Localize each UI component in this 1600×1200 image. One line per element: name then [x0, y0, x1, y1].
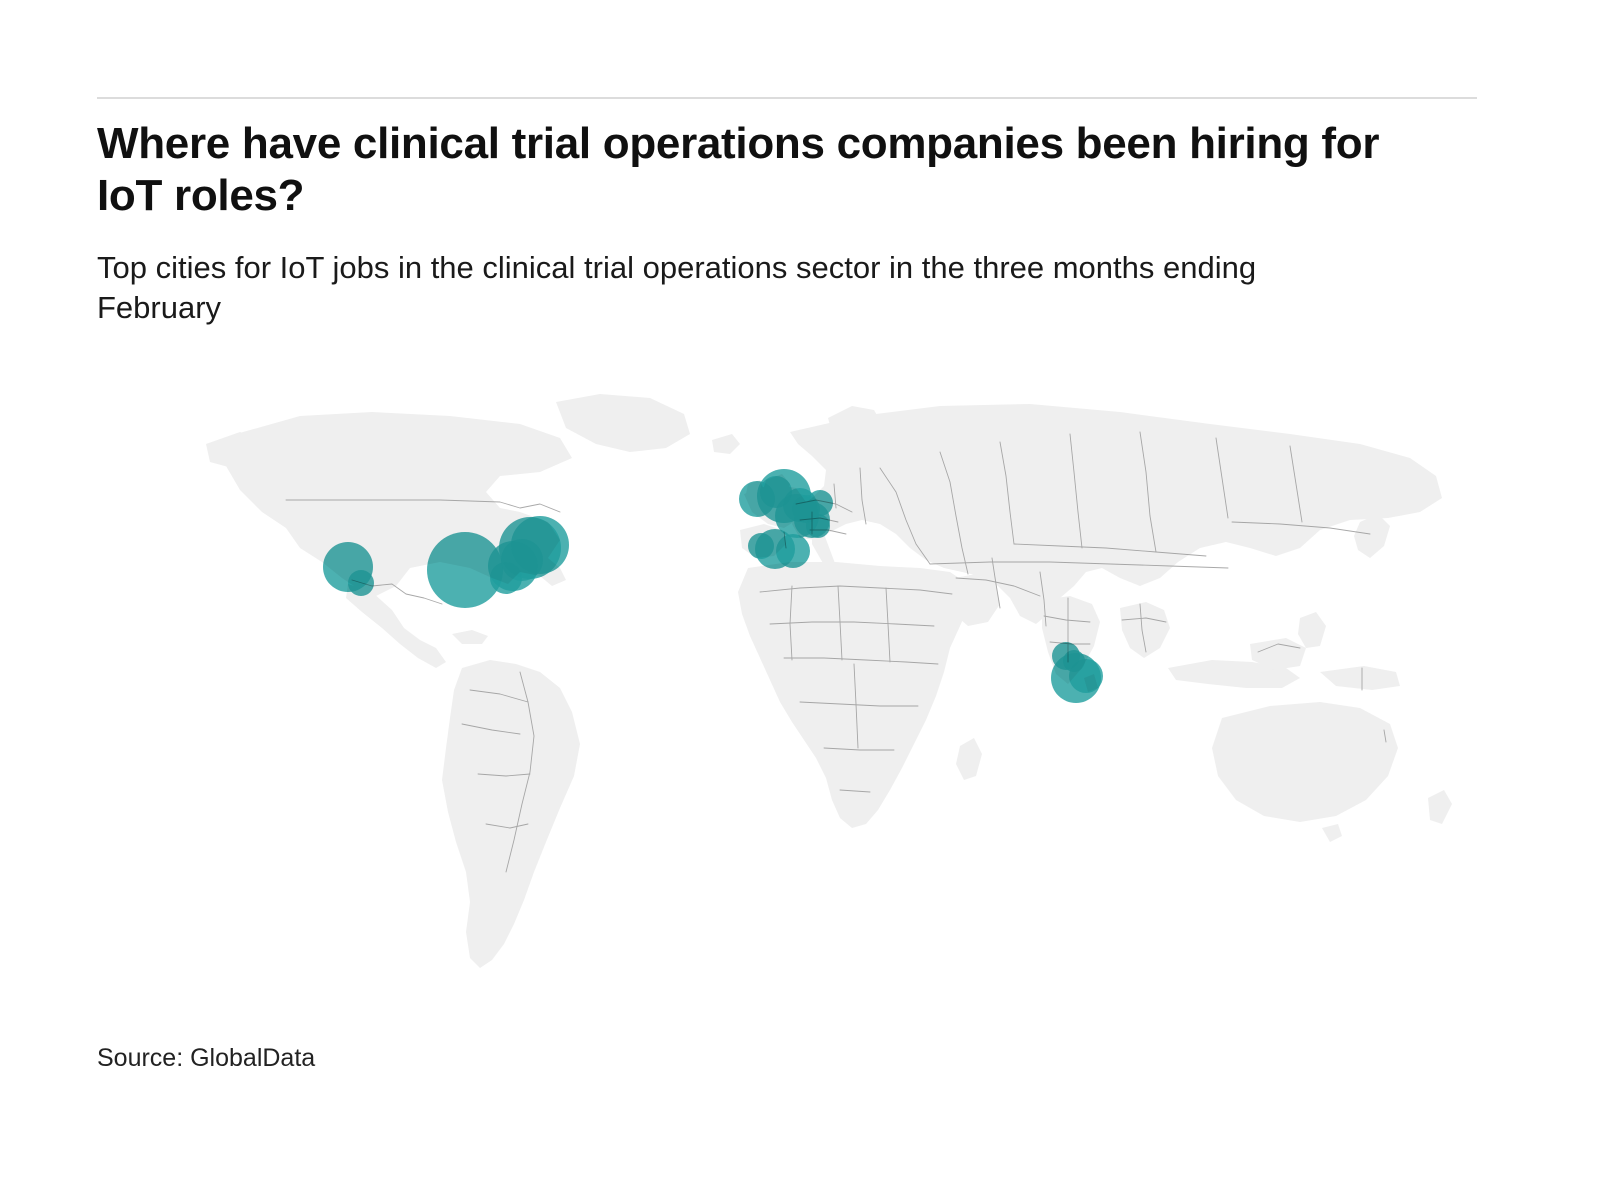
bubble-marker [748, 533, 774, 559]
map-landmasses [206, 394, 1452, 968]
bubble-marker [501, 539, 543, 581]
world-map-svg [0, 372, 1600, 1012]
page-subtitle: Top cities for IoT jobs in the clinical … [97, 248, 1377, 327]
infographic-canvas: Where have clinical trial operations com… [0, 0, 1600, 1200]
bubble-map [0, 372, 1600, 1012]
source-caption: Source: GlobalData [97, 1044, 315, 1073]
bubble-marker [806, 514, 830, 538]
bubble-marker [776, 534, 810, 568]
page-title: Where have clinical trial operations com… [97, 118, 1397, 222]
top-divider [97, 97, 1477, 99]
bubble-marker [348, 570, 374, 596]
bubble-marker [1063, 650, 1085, 672]
